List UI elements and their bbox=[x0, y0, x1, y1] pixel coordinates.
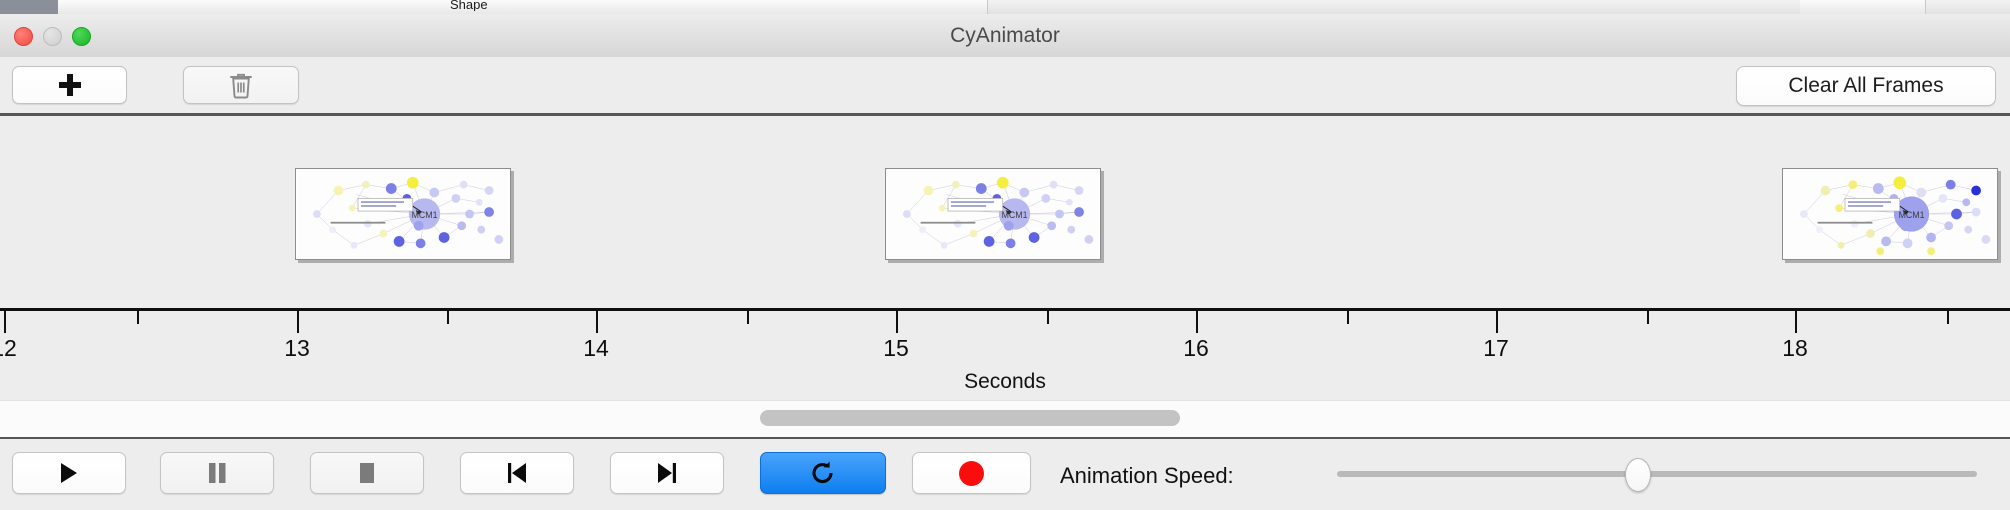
skip-to-end-button[interactable] bbox=[610, 452, 724, 494]
skip-to-start-button[interactable] bbox=[460, 452, 574, 494]
axis-line bbox=[0, 308, 2010, 311]
timeline-scrollbar[interactable] bbox=[0, 400, 2010, 440]
transport-bar: Animation Speed: bbox=[0, 439, 2010, 510]
background-window-chip bbox=[941, 0, 988, 14]
axis-tick-label: 12 bbox=[0, 335, 17, 362]
background-window-chip bbox=[273, 0, 304, 14]
background-window-chip bbox=[1800, 0, 1841, 14]
delete-frame-button[interactable] bbox=[183, 66, 299, 104]
animation-speed-slider[interactable] bbox=[1337, 471, 1977, 477]
axis-tick-label: 17 bbox=[1483, 335, 1509, 362]
loop-button[interactable] bbox=[760, 452, 886, 494]
axis-tick-major bbox=[596, 311, 598, 333]
background-window-chip bbox=[0, 0, 58, 14]
pause-button[interactable] bbox=[160, 452, 274, 494]
network-graph-icon: MCM1 bbox=[296, 169, 510, 259]
background-window-chip bbox=[901, 0, 942, 14]
frame-thumbnail[interactable]: MCM1 bbox=[1782, 168, 1998, 260]
add-frame-button[interactable] bbox=[12, 66, 127, 104]
svg-text:MCM1: MCM1 bbox=[1899, 210, 1925, 220]
axis-tick-minor bbox=[447, 311, 449, 324]
play-button[interactable] bbox=[12, 452, 126, 494]
background-window-chip bbox=[243, 0, 274, 14]
stop-icon bbox=[356, 461, 378, 485]
background-window-chip bbox=[361, 0, 902, 14]
background-window-label: Shape bbox=[450, 0, 488, 11]
title-bar: CyAnimator bbox=[0, 14, 2010, 58]
skip-forward-icon bbox=[655, 461, 679, 485]
axis-tick-major bbox=[297, 311, 299, 333]
record-button[interactable] bbox=[912, 452, 1031, 494]
network-graph-icon: MCM1 bbox=[1783, 169, 1997, 259]
animation-speed-label: Animation Speed: bbox=[1060, 463, 1234, 489]
pause-icon bbox=[206, 461, 228, 485]
network-graph-icon: MCM1 bbox=[886, 169, 1100, 259]
plus-icon bbox=[59, 74, 81, 96]
svg-text:MCM1: MCM1 bbox=[412, 210, 438, 220]
background-window-strip: Shape bbox=[0, 0, 2010, 15]
svg-text:MCM1: MCM1 bbox=[1002, 210, 1028, 220]
trash-icon bbox=[228, 71, 254, 99]
axis-tick-major bbox=[1496, 311, 1498, 333]
clear-all-frames-button[interactable]: Clear All Frames bbox=[1736, 66, 1996, 106]
frames-canvas[interactable]: MCM1 bbox=[0, 116, 2010, 308]
axis-tick-major bbox=[4, 311, 6, 333]
axis-tick-label: 14 bbox=[583, 335, 609, 362]
axis-tick-minor bbox=[1947, 311, 1949, 324]
cyanimator-window: Shape CyAnimator Clear All Frames bbox=[0, 0, 2010, 510]
axis-tick-label: 13 bbox=[284, 335, 310, 362]
axis-tick-label: 15 bbox=[883, 335, 909, 362]
axis-tick-minor bbox=[1347, 311, 1349, 324]
animation-speed-slider-thumb[interactable] bbox=[1625, 458, 1651, 492]
frame-thumbnail[interactable]: MCM1 bbox=[885, 168, 1101, 260]
axis-tick-major bbox=[1795, 311, 1797, 333]
timeline-axis[interactable]: 12 13 14 15 16 17 18 Seconds bbox=[0, 308, 2010, 400]
stop-button[interactable] bbox=[310, 452, 424, 494]
axis-tick-label: 18 bbox=[1782, 335, 1808, 362]
axis-tick-minor bbox=[1647, 311, 1649, 324]
background-window-chip bbox=[58, 0, 184, 14]
background-window-chip bbox=[183, 0, 244, 14]
background-window-chip bbox=[1840, 0, 1926, 14]
frames-toolbar: Clear All Frames bbox=[0, 57, 2010, 116]
scrollbar-thumb[interactable] bbox=[760, 410, 1180, 426]
play-icon bbox=[58, 461, 80, 485]
axis-tick-minor bbox=[137, 311, 139, 324]
axis-title: Seconds bbox=[0, 370, 2010, 394]
record-icon bbox=[959, 461, 984, 486]
axis-tick-minor bbox=[747, 311, 749, 324]
axis-tick-major bbox=[896, 311, 898, 333]
frame-thumbnail[interactable]: MCM1 bbox=[295, 168, 511, 260]
background-window-chip bbox=[303, 0, 362, 14]
loop-icon bbox=[810, 460, 836, 486]
axis-tick-major bbox=[1196, 311, 1198, 333]
axis-tick-minor bbox=[1047, 311, 1049, 324]
skip-back-icon bbox=[505, 461, 529, 485]
axis-tick-label: 16 bbox=[1183, 335, 1209, 362]
window-title: CyAnimator bbox=[0, 14, 2010, 57]
